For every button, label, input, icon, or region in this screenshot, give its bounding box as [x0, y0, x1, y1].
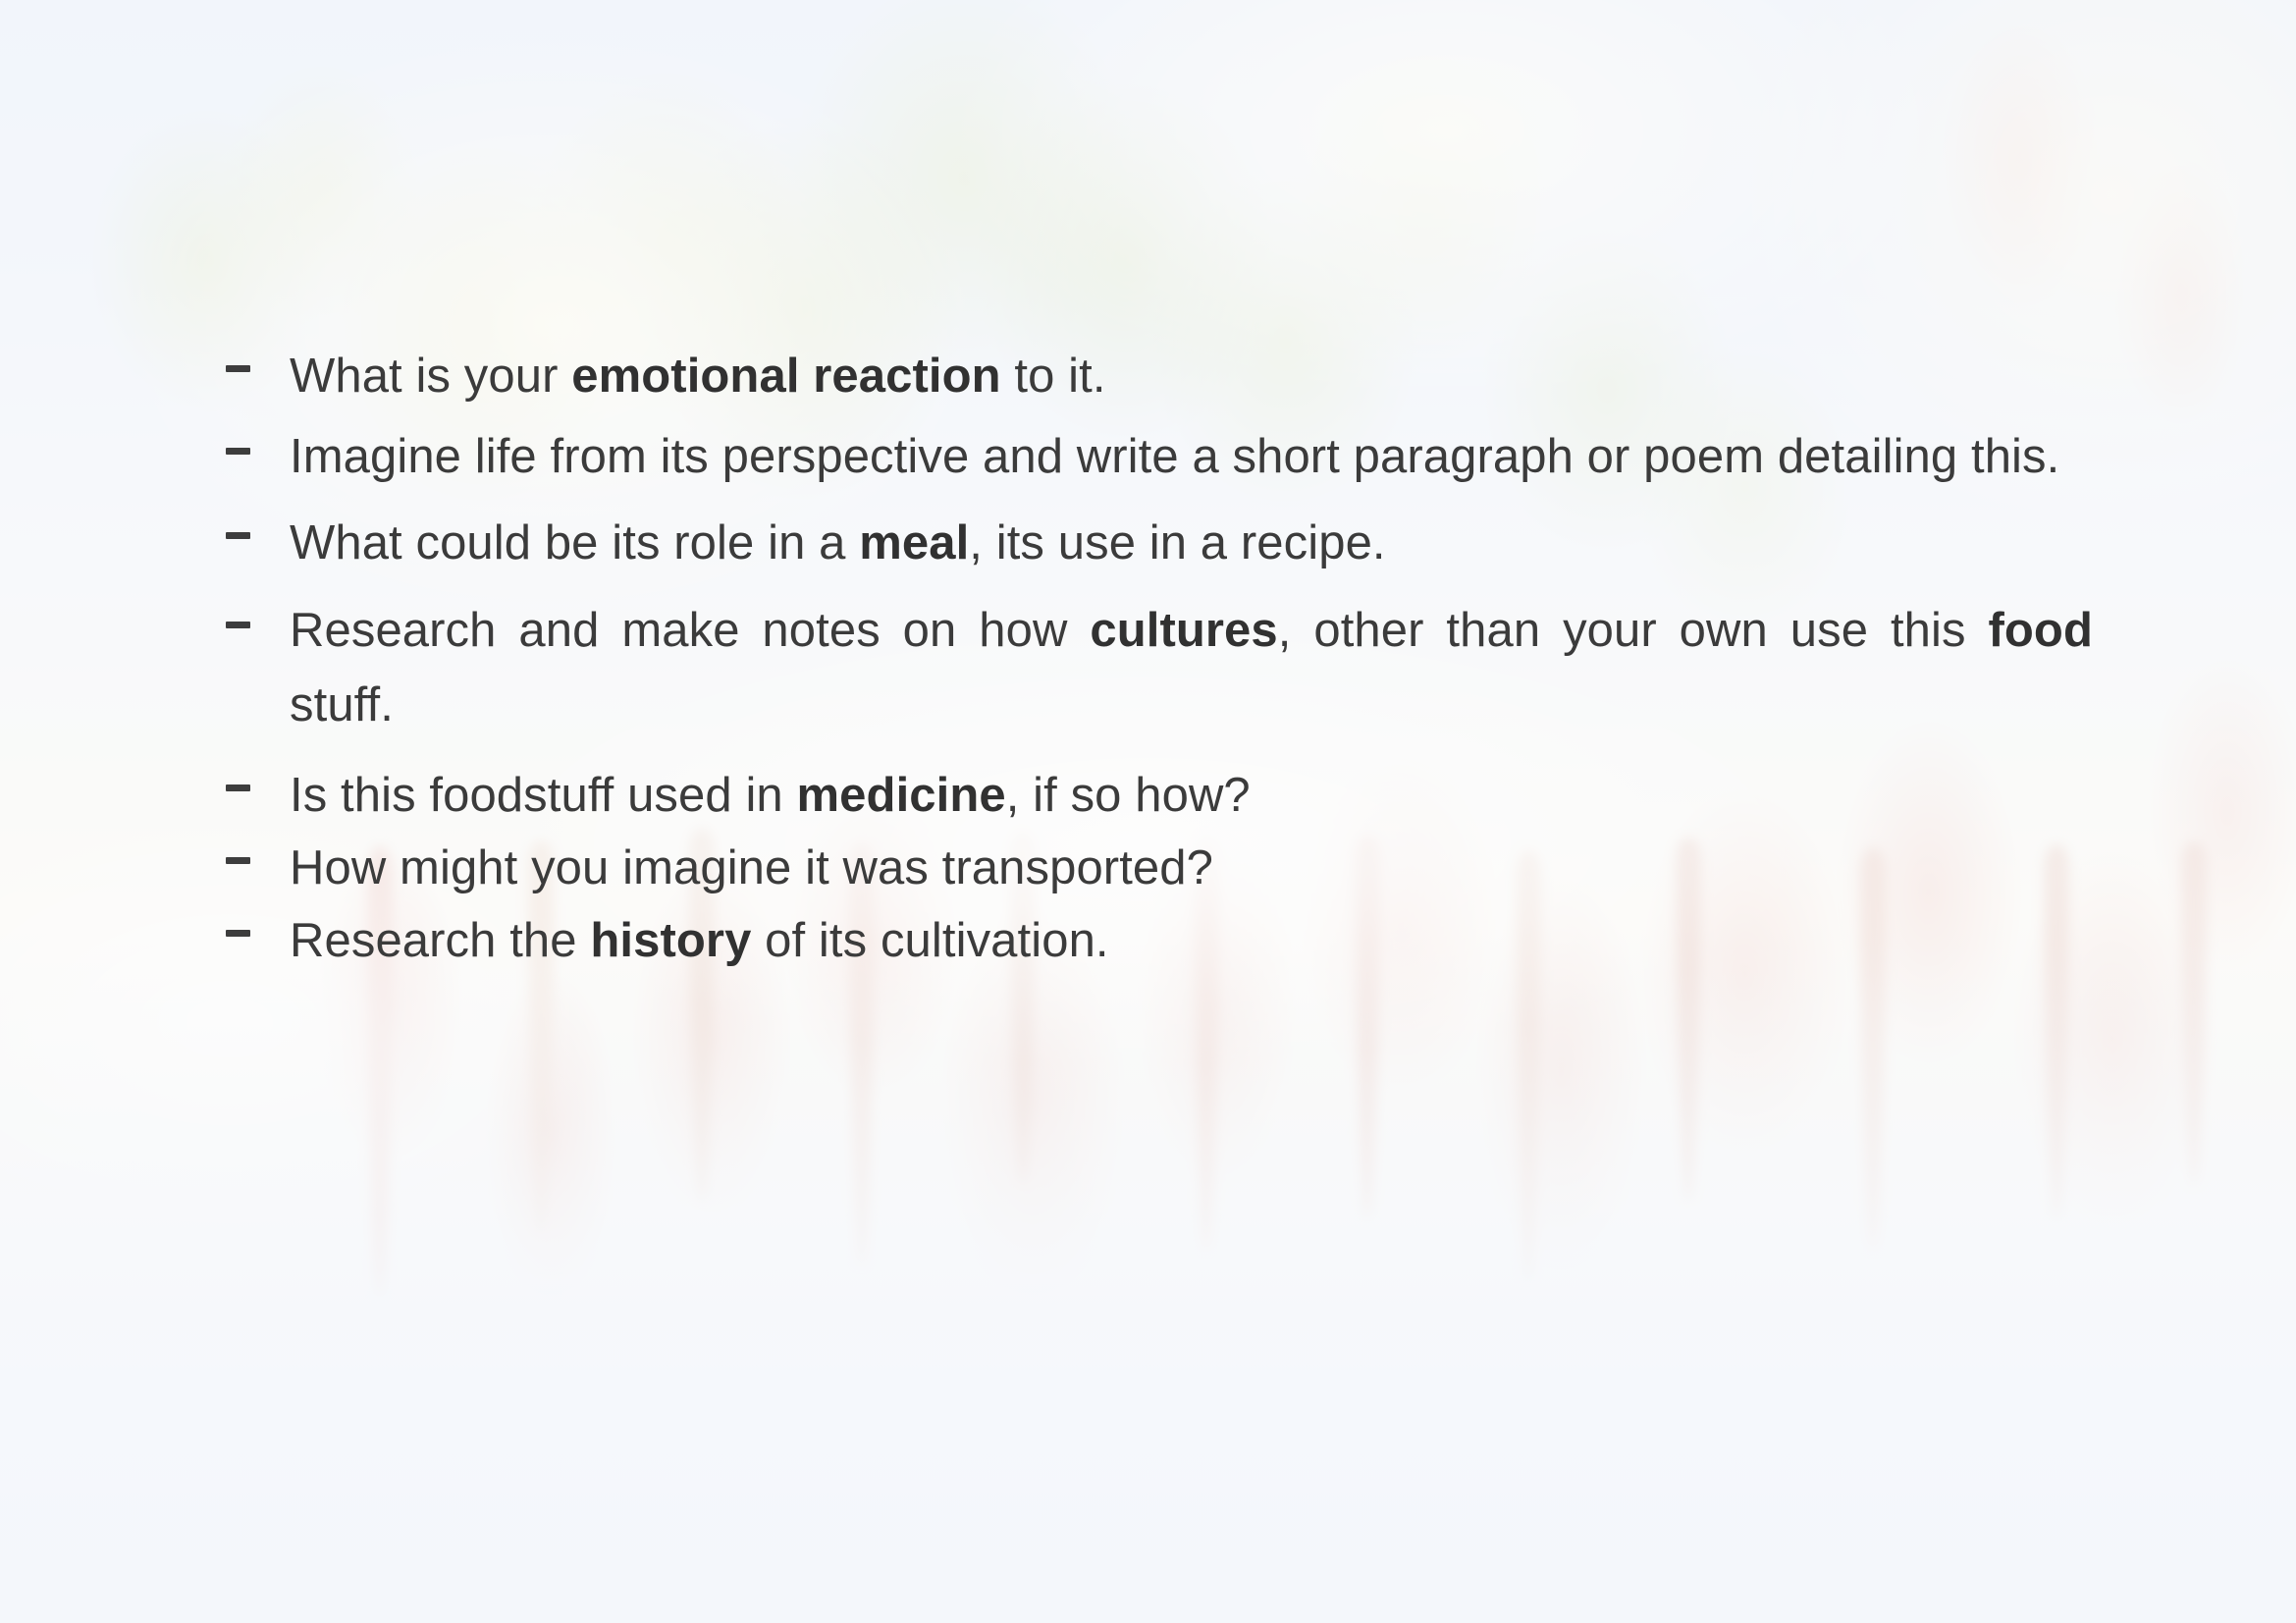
dash-bullet-icon: [226, 784, 250, 791]
presentation-slide: What is your emotional reaction to it. I…: [0, 0, 2296, 1623]
emphasis-text: cultures: [1090, 604, 1277, 657]
prompt-bullet-list: What is your emotional reaction to it. I…: [208, 346, 2093, 972]
slide-content: What is your emotional reaction to it. I…: [0, 0, 2296, 1623]
list-item: Is this foodstuff used in medicine, if s…: [208, 765, 2093, 828]
dash-bullet-icon: [226, 857, 250, 864]
dash-bullet-icon: [226, 365, 250, 372]
list-item: What could be its role in a meal, its us…: [208, 513, 2093, 575]
list-item: Imagine life from its perspective and wr…: [208, 420, 2093, 495]
emphasis-text: history: [590, 914, 751, 967]
list-item: What is your emotional reaction to it.: [208, 346, 2093, 408]
bullet-text: What is your emotional reaction to it.: [290, 346, 2093, 408]
list-item: Research the history of its cultivation.: [208, 910, 2093, 973]
dash-bullet-icon: [226, 448, 250, 455]
emphasis-text: food: [1988, 604, 2093, 657]
dash-bullet-icon: [226, 532, 250, 539]
emphasis-text: emotional reaction: [571, 350, 1000, 403]
dash-bullet-icon: [226, 930, 250, 937]
bullet-text: Imagine life from its perspective and wr…: [290, 420, 2093, 495]
dash-bullet-icon: [226, 622, 250, 628]
emphasis-text: medicine: [797, 769, 1006, 822]
bullet-text: What could be its role in a meal, its us…: [290, 513, 2093, 575]
emphasis-text: meal: [859, 516, 969, 569]
list-item: Research and make notes on how cultures,…: [208, 594, 2093, 743]
bullet-text: Is this foodstuff used in medicine, if s…: [290, 765, 2093, 828]
bullet-text: Research the history of its cultivation.: [290, 910, 2093, 973]
list-item: How might you imagine it was transported…: [208, 838, 2093, 900]
bullet-text: How might you imagine it was transported…: [290, 838, 2093, 900]
bullet-text: Research and make notes on how cultures,…: [290, 594, 2093, 743]
